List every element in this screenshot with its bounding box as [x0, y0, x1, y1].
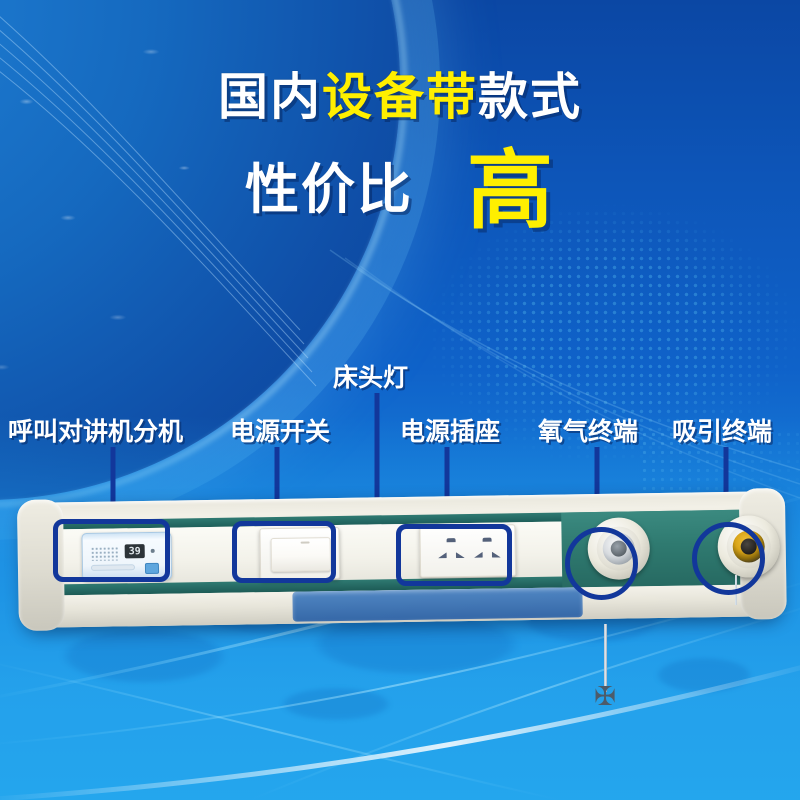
pull-cord-hook-icon[interactable]: ✠: [592, 684, 618, 710]
panel-rail-cover-flap[interactable]: [292, 587, 582, 622]
promo-banner: 国内设备带款式 性价比高 呼叫对讲机分机 电源开关 床头灯 电源插座 氧气终端 …: [0, 0, 800, 800]
callout-label-intercom: 呼叫对讲机分机: [8, 412, 183, 448]
highlight-box-intercom: [53, 519, 170, 582]
callout-label-bed-lamp: 床头灯: [333, 358, 408, 394]
callout-label-power-switch: 电源开关: [230, 412, 330, 448]
callout-label-oxygen-terminal: 氧气终端: [538, 412, 638, 448]
callout-label-power-socket: 电源插座: [400, 412, 500, 448]
highlight-box-power-socket: [396, 524, 512, 586]
callout-label-suction-terminal: 吸引终端: [672, 412, 772, 448]
highlight-box-power-switch: [232, 521, 336, 583]
highlight-circle-oxygen-terminal: [565, 527, 638, 600]
highlight-circle-suction-terminal: [692, 522, 765, 595]
